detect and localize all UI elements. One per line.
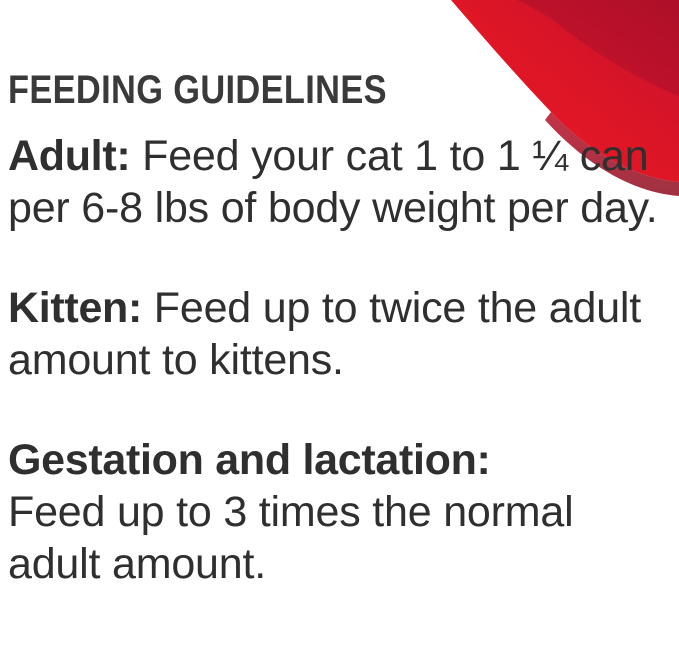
- section-gestation-label: Gestation and lactation:: [8, 434, 668, 486]
- section-gestation-body: Feed up to 3 times the normal adult amou…: [8, 486, 668, 590]
- section-kitten-label: Kitten:: [8, 284, 142, 332]
- section-gestation: Gestation and lactation: Feed up to 3 ti…: [8, 434, 668, 590]
- page-title: FEEDING GUIDELINES: [8, 0, 576, 110]
- section-adult-label: Adult:: [8, 132, 130, 180]
- section-kitten: Kitten: Feed up to twice the adult amoun…: [8, 282, 668, 386]
- guidelines-content: FEEDING GUIDELINES Adult: Feed your cat …: [8, 0, 668, 590]
- section-adult-text: Adult: Feed your cat 1 to 1 ¼ can per 6-…: [8, 130, 668, 234]
- feeding-guidelines-panel: FEEDING GUIDELINES Adult: Feed your cat …: [0, 0, 679, 671]
- section-adult: Adult: Feed your cat 1 to 1 ¼ can per 6-…: [8, 130, 668, 234]
- section-kitten-text: Kitten: Feed up to twice the adult amoun…: [8, 282, 668, 386]
